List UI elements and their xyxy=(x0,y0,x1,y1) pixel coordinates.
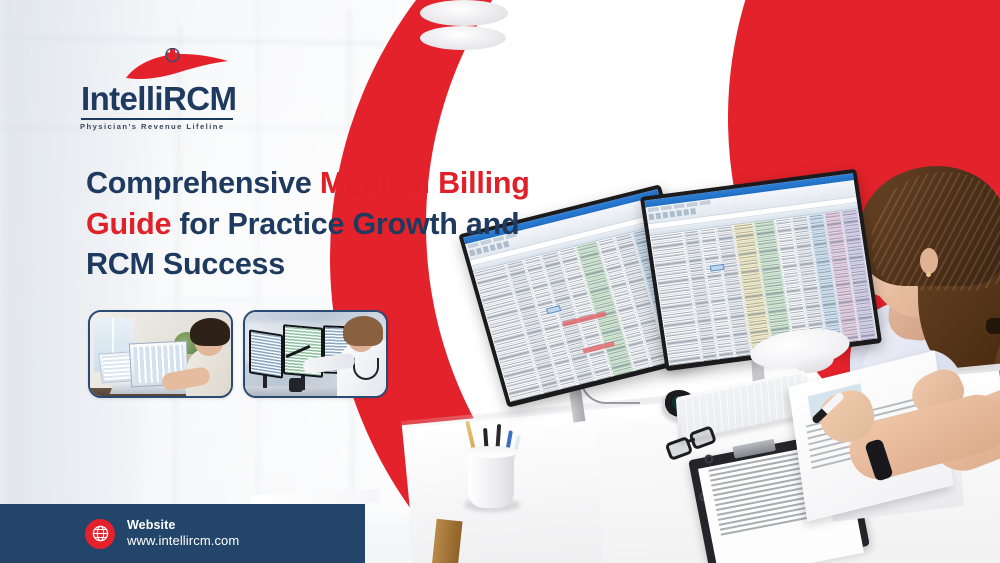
ribbon-tab[interactable] xyxy=(686,202,697,207)
ribbon-icon[interactable] xyxy=(649,214,655,221)
clipboard-ring xyxy=(704,454,715,465)
grid-cell[interactable] xyxy=(736,354,752,359)
ribbon-icon[interactable] xyxy=(676,210,682,217)
monitor xyxy=(249,329,283,378)
thumbnail-physician-reviewing-monitors[interactable] xyxy=(243,310,388,398)
page-title: Comprehensive Medical Billing Guide for … xyxy=(86,163,591,285)
person-hair xyxy=(190,318,230,346)
footer-bar: Website www.intellircm.com xyxy=(0,504,365,563)
ribbon-icon[interactable] xyxy=(690,208,696,215)
logo-tagline: Physician's Revenue Lifeline xyxy=(80,122,246,131)
cup xyxy=(289,378,303,392)
footer-contact: Website www.intellircm.com xyxy=(127,518,239,550)
headline-segment-1: Comprehensive xyxy=(86,166,320,200)
ribbon-icon[interactable] xyxy=(662,212,668,219)
ribbon-icon[interactable] xyxy=(655,213,661,220)
logo-divider xyxy=(81,118,233,120)
logo[interactable]: IntelliRCM Physician's Revenue Lifeline xyxy=(80,48,246,131)
thumbnail-image xyxy=(245,312,386,396)
grid-cell[interactable] xyxy=(719,356,735,361)
ribbon-icon[interactable] xyxy=(683,209,689,216)
ribbon-tab[interactable] xyxy=(648,207,659,212)
footer-label: Website xyxy=(127,518,239,534)
thumbnail-image xyxy=(90,312,231,396)
red-swoosh-icon xyxy=(124,48,234,82)
footer-url[interactable]: www.intellircm.com xyxy=(127,533,239,549)
logo-word-rcm: RCM xyxy=(163,80,236,117)
thumbnail-row xyxy=(88,310,388,398)
marketing-banner: IntelliRCM Physician's Revenue Lifeline … xyxy=(0,0,1000,563)
globe-glyph xyxy=(91,524,110,543)
ribbon-tab[interactable] xyxy=(661,205,672,210)
globe-icon xyxy=(85,519,115,549)
content-column: IntelliRCM Physician's Revenue Lifeline … xyxy=(0,0,620,563)
thumbnail-billing-specialist-at-laptop[interactable] xyxy=(88,310,233,398)
swoosh-icon xyxy=(80,48,246,82)
hair-tie xyxy=(986,318,1000,334)
ribbon-tab[interactable] xyxy=(699,200,710,205)
ribbon-icon[interactable] xyxy=(669,211,675,218)
person-hair xyxy=(343,316,383,346)
ear xyxy=(920,248,938,274)
ribbon-tab[interactable] xyxy=(673,203,684,208)
earring xyxy=(926,272,931,277)
grid-cell[interactable] xyxy=(861,337,877,342)
grid-cell[interactable] xyxy=(702,358,718,363)
logo-wordmark: IntelliRCM xyxy=(80,82,246,115)
logo-word-intelli: Intelli xyxy=(81,80,163,117)
